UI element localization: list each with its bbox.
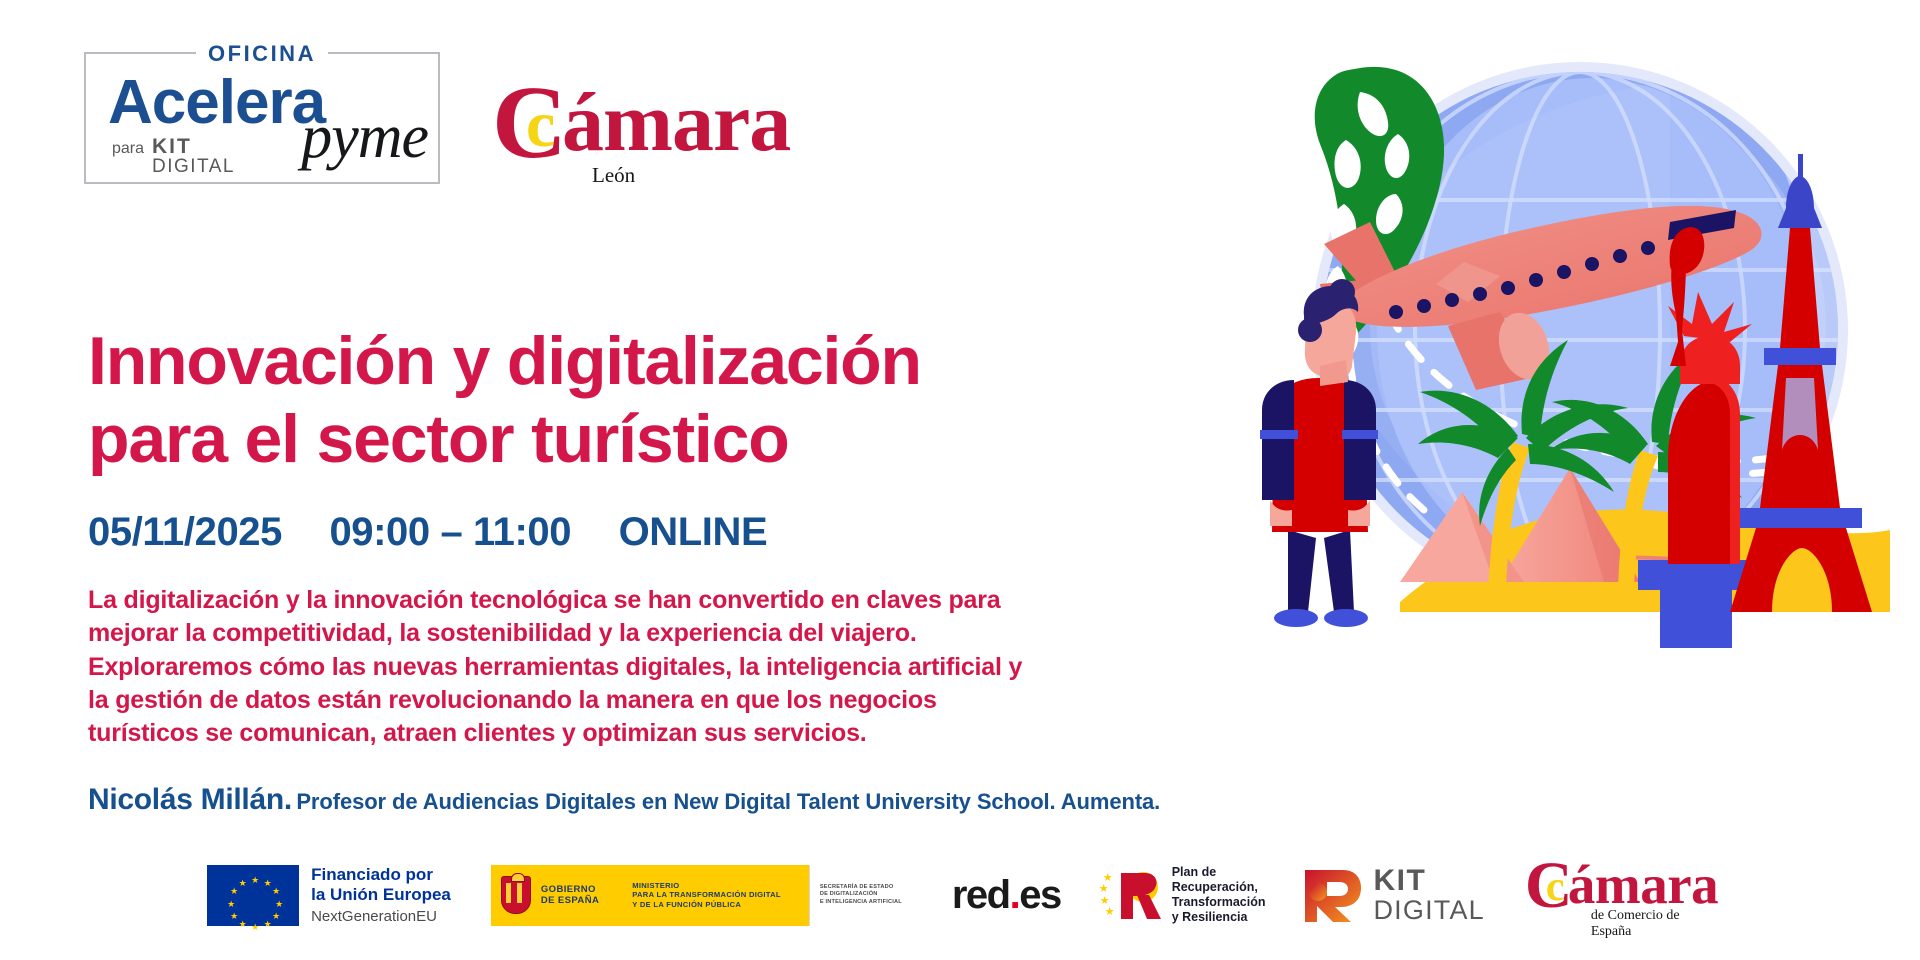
camara-leon-logo: C c ámara León — [492, 82, 832, 187]
prtr-line-1: Plan de — [1172, 865, 1266, 880]
camara-comercio-logo: C c ámara de Comercio de España — [1525, 862, 1713, 928]
redes-part-1: red — [952, 873, 1010, 917]
event-meta: 05/11/2025 09:00 – 11:00 ONLINE — [88, 510, 767, 555]
page-title-line-1: Innovación y digitalización — [88, 322, 1088, 401]
event-mode: ONLINE — [619, 510, 768, 554]
ministerio-labels: MINISTERIO PARA LA TRANSFORMACIÓN DIGITA… — [620, 881, 795, 910]
page-title: Innovación y digitalización para el sect… — [88, 322, 1088, 480]
gobierno-espana-logo: GOBIERNO DE ESPAÑA MINISTERIO PARA LA TR… — [491, 865, 912, 926]
ministerio-line-2: PARA LA TRANSFORMACIÓN DIGITAL — [632, 890, 781, 900]
gobierno-line-2: DE ESPAÑA — [541, 895, 599, 907]
camara-leon-sublabel: León — [592, 164, 635, 186]
event-time: 09:00 – 11:00 — [329, 510, 571, 554]
prtr-line-4: y Resiliencia — [1172, 910, 1266, 925]
page-title-line-2: para el sector turístico — [88, 400, 1088, 479]
secretaria-line-2: DE DIGITALIZACIÓN — [820, 891, 902, 899]
gobierno-yellow-block: GOBIERNO DE ESPAÑA MINISTERIO PARA LA TR… — [491, 865, 809, 926]
acelera-pyme-logo: OFICINA Acelera pyme para KIT DIGITAL — [84, 52, 440, 184]
event-poster: OFICINA Acelera pyme para KIT DIGITAL C … — [0, 0, 1920, 960]
eu-flag-icon: ★ ★ ★ ★ ★ ★ ★ ★ ★ ★ ★ ★ — [207, 865, 299, 926]
description-line-1: La digitalización y la innovación tecnol… — [88, 584, 1218, 617]
camara-comercio-c-inner: c — [1546, 870, 1565, 904]
digital-label: DIGITAL — [1373, 896, 1484, 924]
redes-part-2: es — [1019, 873, 1061, 917]
kit-digital-mark-icon — [1305, 866, 1363, 924]
secretaria-block: SECRETARÍA DE ESTADO DE DIGITALIZACIÓN E… — [809, 865, 912, 926]
eu-nextgen-label: NextGenerationEU — [311, 907, 451, 926]
eu-text-line-2: la Unión Europea — [311, 885, 451, 905]
ministerio-line-1: MINISTERIO — [632, 881, 781, 891]
acelera-oficina-label: OFICINA — [196, 42, 328, 66]
event-description: La digitalización y la innovación tecnol… — [88, 584, 1218, 750]
acelera-wordmark: Acelera — [108, 72, 325, 134]
eu-funding-logo: ★ ★ ★ ★ ★ ★ ★ ★ ★ ★ ★ ★ Financiado por l… — [207, 865, 451, 926]
description-line-4: la gestión de datos están revolucionando… — [88, 684, 1218, 717]
gobierno-labels: GOBIERNO DE ESPAÑA — [541, 884, 599, 907]
acelera-kit-label: KIT — [152, 136, 192, 158]
pyme-wordmark: pyme — [301, 106, 428, 168]
eu-funding-text: Financiado por la Unión Europea NextGene… — [311, 865, 451, 926]
camara-comercio-sublabel: de Comercio de España — [1591, 908, 1713, 940]
event-date: 05/11/2025 — [88, 510, 282, 554]
description-line-5: turísticos se comunican, atraen clientes… — [88, 717, 1218, 750]
logo-bar: OFICINA Acelera pyme para KIT DIGITAL C … — [0, 0, 1000, 200]
tourism-illustration — [1200, 30, 1890, 690]
kit-label: KIT — [1373, 866, 1484, 896]
redes-dot: . — [1010, 873, 1020, 917]
redes-logo: red.es — [952, 874, 1061, 916]
speaker-line: Nicolás Millán. Profesor de Audiencias D… — [88, 783, 1160, 817]
camara-comercio-wordmark: ámara — [1568, 856, 1718, 914]
prtr-mark-icon: ★ ★ ★ ★ — [1101, 869, 1163, 921]
speaker-role: Profesor de Audiencias Digitales en New … — [296, 789, 1160, 814]
prtr-line-2: Recuperación, — [1172, 880, 1266, 895]
footer-logo-strip: ★ ★ ★ ★ ★ ★ ★ ★ ★ ★ ★ ★ Financiado por l… — [0, 840, 1920, 950]
description-line-3: Exploraremos cómo las nuevas herramienta… — [88, 651, 1218, 684]
spain-coat-of-arms-icon — [501, 876, 531, 914]
ministerio-line-3: Y DE LA FUNCIÓN PÚBLICA — [632, 900, 781, 910]
kit-digital-logo: KIT DIGITAL — [1305, 866, 1484, 924]
camara-c-inner-letter: c — [526, 99, 555, 151]
acelera-digital-label: DIGITAL — [152, 157, 235, 177]
gobierno-line-1: GOBIERNO — [541, 884, 599, 896]
description-line-2: mejorar la competitividad, la sostenibil… — [88, 617, 1218, 650]
eu-text-line-1: Financiado por — [311, 865, 451, 885]
prtr-logo: ★ ★ ★ ★ Plan de Recuperación, Transforma… — [1101, 865, 1266, 925]
secretaria-labels: SECRETARÍA DE ESTADO DE DIGITALIZACIÓN E… — [820, 884, 902, 907]
secretaria-line-3: E INTELIGENCIA ARTIFICIAL — [820, 899, 902, 907]
prtr-text: Plan de Recuperación, Transformación y R… — [1172, 865, 1266, 925]
speaker-name: Nicolás Millán. — [88, 783, 292, 816]
camara-wordmark: ámara — [562, 80, 790, 166]
acelera-para-label: para — [112, 140, 144, 157]
kit-digital-text: KIT DIGITAL — [1373, 866, 1484, 924]
prtr-line-3: Transformación — [1172, 895, 1266, 910]
